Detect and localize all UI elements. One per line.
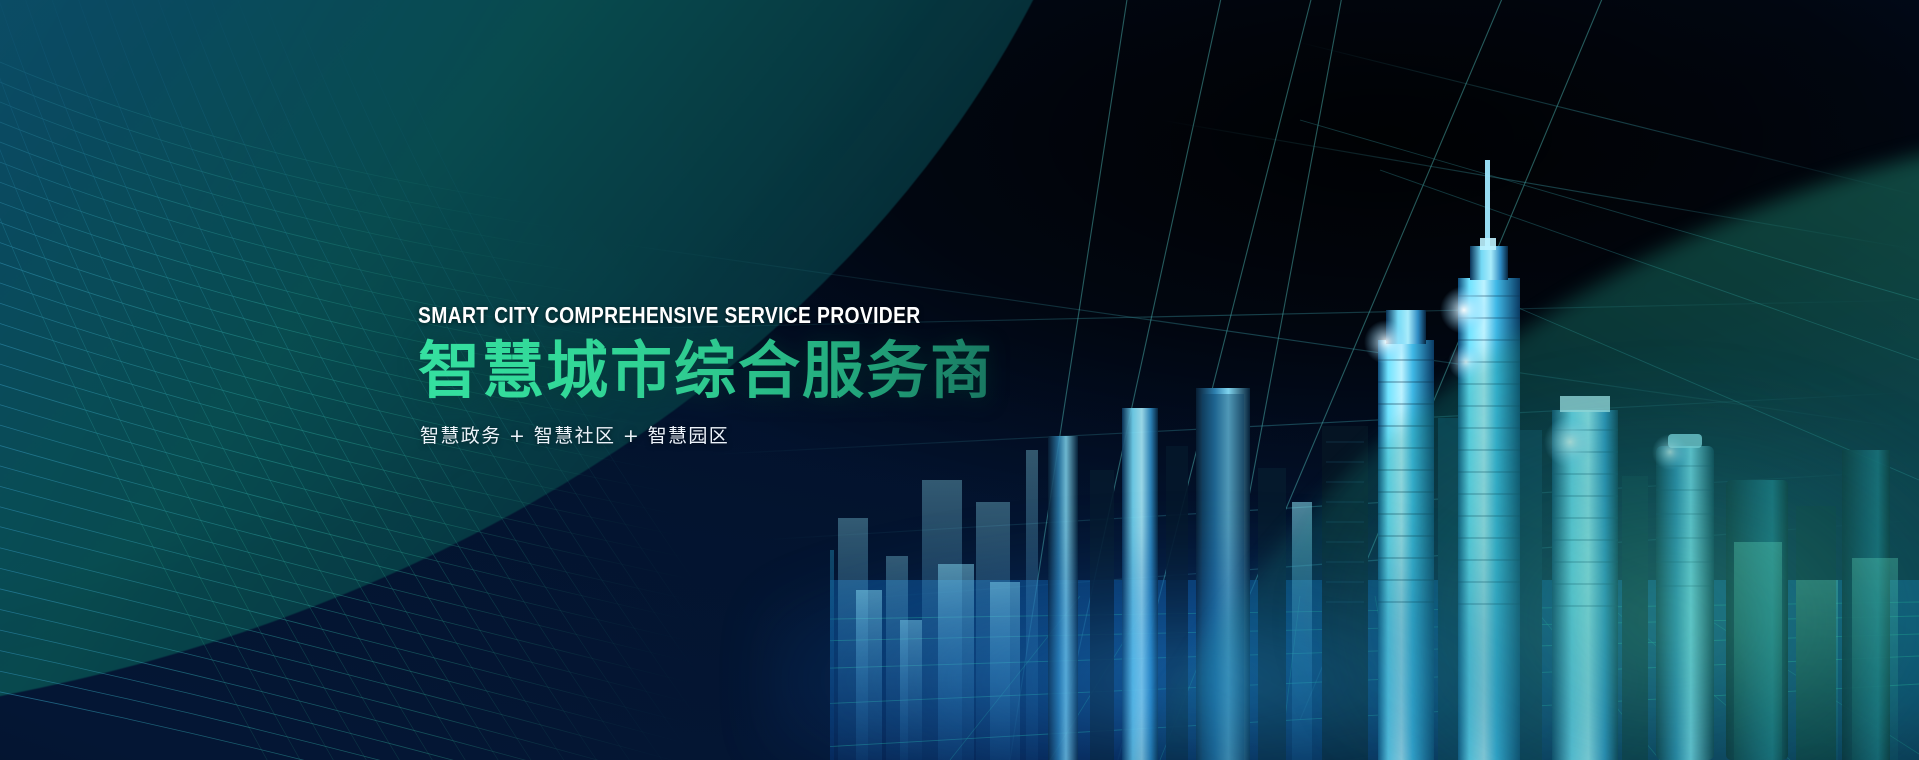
hero-text-block: SMART CITY COMPREHENSIVE SERVICE PROVIDE… <box>418 302 1016 448</box>
hero-banner: SMART CITY COMPREHENSIVE SERVICE PROVIDE… <box>0 0 1919 760</box>
hero-headline: 智慧城市综合服务商 <box>418 338 1016 405</box>
hero-subline: 智慧政务 + 智慧社区 + 智慧园区 <box>420 421 1016 448</box>
hero-eyebrow: SMART CITY COMPREHENSIVE SERVICE PROVIDE… <box>418 302 921 329</box>
right-green-haze <box>1159 350 1919 760</box>
